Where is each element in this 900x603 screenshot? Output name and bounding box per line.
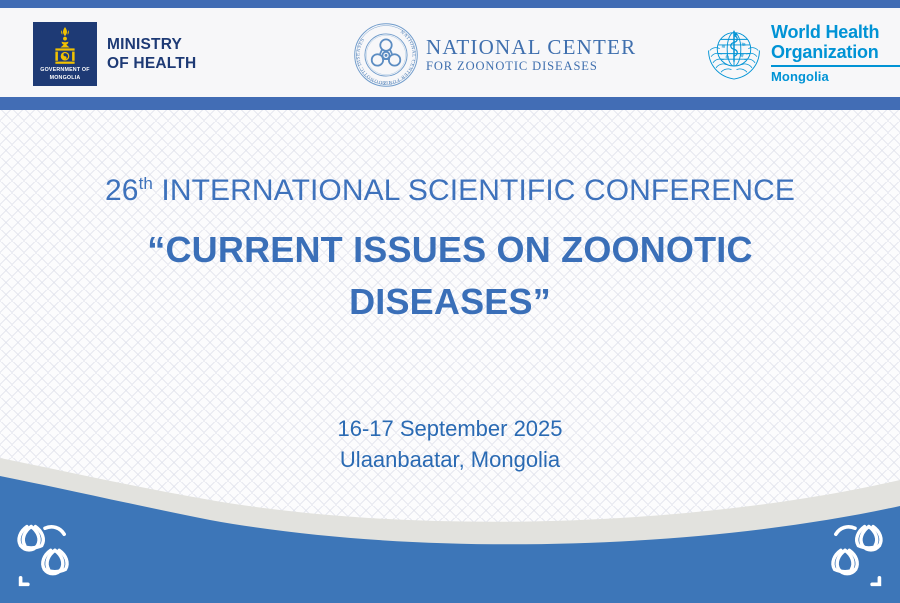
- svg-text:1951: 1951: [381, 80, 391, 85]
- ministry-wordmark-line1: MINISTRY: [107, 35, 196, 54]
- edition-ordinal-suffix: th: [139, 174, 153, 193]
- title-block: 26th INTERNATIONAL SCIENTIFIC CONFERENCE…: [0, 110, 900, 328]
- logo-row: GOVERNMENT OF MONGOLIA MINISTRY OF HEALT…: [0, 8, 900, 97]
- ministry-wordmark: MINISTRY OF HEALTH: [107, 35, 196, 73]
- emblem-caption: GOVERNMENT OF MONGOLIA: [33, 67, 97, 82]
- who-country-label: Mongolia: [771, 69, 900, 84]
- conference-subtitle: 26th INTERNATIONAL SCIENTIFIC CONFERENCE: [0, 172, 900, 210]
- ncz-wordmark-line2: FOR ZOONOTIC DISEASES: [426, 58, 636, 74]
- who-wordmark-line1: World Health: [771, 22, 900, 42]
- emblem-caption-line2: MONGOLIA: [50, 75, 81, 81]
- who-emblem-icon: [703, 22, 765, 84]
- logo-world-health-organization: World Health Organization Mongolia: [703, 22, 900, 84]
- logo-national-center-zoonotic-diseases: NATIONAL CENTER FOR ZOONOTIC DISEASES 19…: [352, 21, 636, 89]
- soyombo-emblem: GOVERNMENT OF MONGOLIA: [33, 22, 97, 86]
- conference-theme-title: “CURRENT ISSUES ON ZOONOTIC DISEASES”: [0, 224, 900, 328]
- ncz-wordmark: NATIONAL CENTER FOR ZOONOTIC DISEASES: [426, 36, 636, 74]
- logo-ministry-of-health: GOVERNMENT OF MONGOLIA MINISTRY OF HEALT…: [33, 22, 196, 86]
- ncz-wordmark-line1: NATIONAL CENTER: [426, 36, 636, 58]
- soyombo-icon: [50, 27, 80, 65]
- who-wordmark-line2: Organization: [771, 42, 900, 62]
- header-divider-rule: [0, 97, 900, 110]
- triquetra-knot-ornament-left: [14, 521, 80, 587]
- ministry-wordmark-line2: OF HEALTH: [107, 54, 196, 73]
- bottom-wave-band: [0, 458, 900, 603]
- event-dates: 16-17 September 2025: [0, 413, 900, 444]
- top-accent-rule: [0, 0, 900, 8]
- conference-title-slide: GOVERNMENT OF MONGOLIA MINISTRY OF HEALT…: [0, 0, 900, 603]
- emblem-caption-line1: GOVERNMENT OF: [40, 67, 89, 73]
- conference-subtitle-text: INTERNATIONAL SCIENTIFIC CONFERENCE: [153, 174, 795, 207]
- biohazard-seal-icon: NATIONAL CENTER FOR ZOONOTIC DISEASES 19…: [352, 21, 420, 89]
- who-wordmark: World Health Organization Mongolia: [771, 22, 900, 84]
- triquetra-knot-ornament-right: [820, 521, 886, 587]
- edition-number: 26: [105, 174, 139, 207]
- who-underline-rule: [771, 65, 900, 67]
